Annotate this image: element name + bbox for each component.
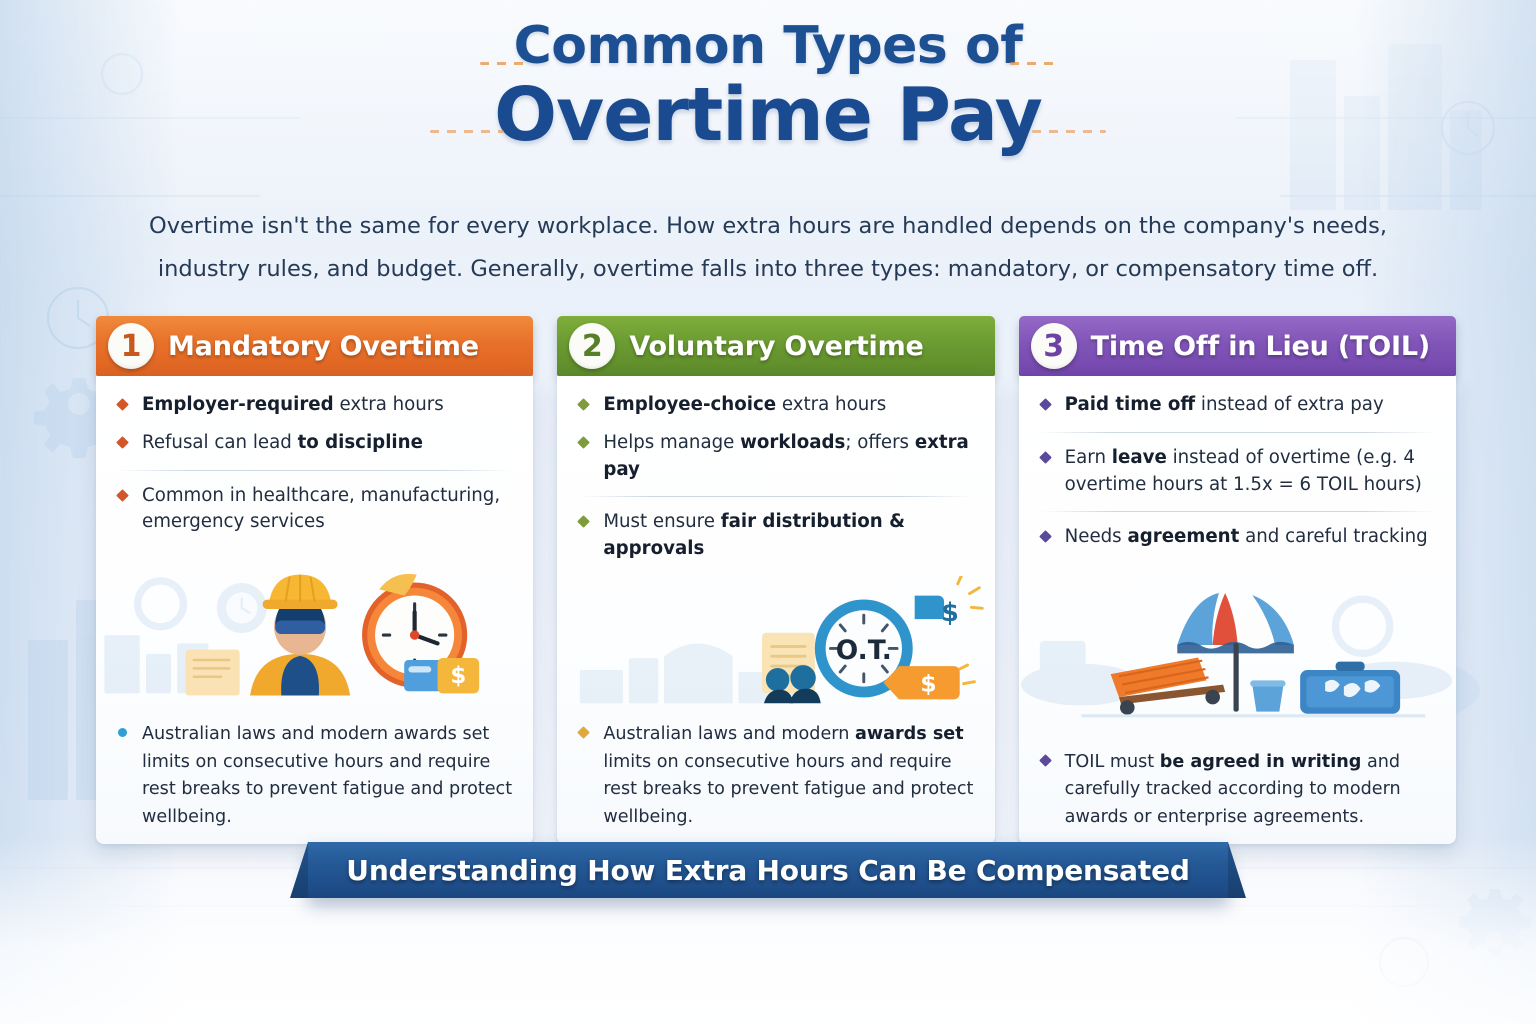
footnote-text2: limits on consecutive hours and require … bbox=[603, 752, 973, 828]
footer-banner: Understanding How Extra Hours Can Be Com… bbox=[308, 842, 1228, 898]
dash-right-icon bbox=[1010, 62, 1056, 65]
bullet-bold: to discipline bbox=[298, 432, 423, 453]
bullet-text: extra hours bbox=[334, 394, 444, 415]
card3-header: 3 Time Off in Lieu (TOIL) bbox=[1019, 316, 1456, 376]
diamond-bullet-icon bbox=[577, 398, 590, 411]
list-item: Helps manage workloads; offers extra pay bbox=[577, 430, 974, 484]
title-dash-accents bbox=[0, 62, 1536, 72]
card1-header: 1 Mandatory Overtime bbox=[96, 316, 533, 376]
bullet-bold: workloads bbox=[740, 432, 845, 453]
beach-umbrella-lounger-suitcase-icon bbox=[1019, 564, 1456, 741]
page-subtitle: Overtime isn't the same for every workpl… bbox=[140, 205, 1396, 291]
diamond-bullet-icon bbox=[116, 489, 129, 502]
bullet-bold: agreement bbox=[1127, 526, 1239, 547]
svg-text:$: $ bbox=[921, 669, 937, 697]
card3-number: 3 bbox=[1043, 329, 1064, 364]
svg-text:$: $ bbox=[941, 598, 959, 628]
construction-worker-clock-money-icon: $ bbox=[96, 549, 533, 713]
card1-title: Mandatory Overtime bbox=[168, 331, 479, 362]
bullet-bold: leave bbox=[1112, 447, 1167, 468]
card-time-off-in-lieu[interactable]: 3 Time Off in Lieu (TOIL) Paid time off … bbox=[1019, 316, 1456, 844]
card2-body: Employee-choice extra hours Helps manage… bbox=[557, 376, 994, 844]
card-mandatory-overtime[interactable]: 1 Mandatory Overtime Employer-required e… bbox=[96, 316, 533, 844]
price-tag-icon: $ bbox=[884, 666, 960, 699]
infographic-canvas: Common Types of Overtime Pay Overtime is… bbox=[0, 0, 1536, 1024]
card2-number: 2 bbox=[582, 329, 603, 364]
bullet-text: extra hours bbox=[776, 394, 886, 415]
footnote-text: TOIL must bbox=[1065, 752, 1160, 772]
page-header: Common Types of Overtime Pay bbox=[0, 20, 1536, 157]
card3-illustration bbox=[1019, 564, 1456, 741]
ot-clock-documents-money-icon: O.T. $ $ bbox=[557, 576, 994, 713]
list-item: Paid time off instead of extra pay bbox=[1039, 392, 1436, 419]
dash-left-lower-icon bbox=[430, 130, 504, 133]
list-item: Employee-choice extra hours bbox=[577, 392, 974, 419]
card2-bullet-list: Employee-choice extra hours Helps manage… bbox=[577, 392, 974, 494]
svg-text:O.T.: O.T. bbox=[836, 635, 892, 666]
card1-number: 1 bbox=[121, 329, 142, 364]
diamond-bullet-icon bbox=[1039, 754, 1052, 767]
card3-bullet-list-3: Needs agreement and careful tracking bbox=[1039, 524, 1436, 562]
footnote-bold: be agreed in writing bbox=[1160, 752, 1362, 772]
card3-footnote: TOIL must be agreed in writing and caref… bbox=[1039, 741, 1436, 834]
round-bullet-icon bbox=[118, 728, 127, 737]
card2-title: Voluntary Overtime bbox=[629, 331, 923, 362]
card1-number-badge: 1 bbox=[108, 323, 154, 369]
card1-illustration: $ bbox=[96, 549, 533, 713]
card3-bullet-list: Paid time off instead of extra pay bbox=[1039, 392, 1436, 430]
card-grid: 1 Mandatory Overtime Employer-required e… bbox=[96, 316, 1456, 844]
bullet-text: Needs bbox=[1065, 526, 1128, 547]
card1-bullet-list: Employer-required extra hours Refusal ca… bbox=[116, 392, 513, 468]
card2-bullet-list-2: Must ensure fair distribution & approval… bbox=[577, 509, 974, 574]
list-item: Needs agreement and careful tracking bbox=[1039, 524, 1436, 551]
diamond-bullet-icon bbox=[1039, 398, 1052, 411]
lounge-chair-icon bbox=[1110, 658, 1225, 715]
bullet-bold: Paid time off bbox=[1065, 394, 1195, 415]
diamond-bullet-icon bbox=[1039, 530, 1052, 543]
footnote-text: Australian laws and modern awards set li… bbox=[142, 724, 512, 827]
card3-divider-1 bbox=[1039, 432, 1436, 433]
diamond-bullet-icon bbox=[1039, 451, 1052, 464]
list-item: Employer-required extra hours bbox=[116, 392, 513, 419]
bullet-text: Refusal can lead bbox=[142, 432, 298, 453]
diamond-bullet-icon bbox=[116, 436, 129, 449]
dash-left-icon bbox=[480, 62, 526, 65]
diamond-bullet-icon bbox=[577, 436, 590, 449]
diamond-bullet-icon bbox=[116, 398, 129, 411]
bullet-text: Common in healthcare, manufacturing, eme… bbox=[142, 485, 500, 533]
diamond-bullet-icon bbox=[577, 726, 590, 739]
bullet-text: instead of extra pay bbox=[1195, 394, 1384, 415]
card1-body: Employer-required extra hours Refusal ca… bbox=[96, 376, 533, 844]
card2-illustration: O.T. $ $ bbox=[557, 576, 994, 713]
worker-figure-icon bbox=[250, 575, 350, 696]
card3-bullet-list-2: Earn leave instead of overtime (e.g. 4 o… bbox=[1039, 445, 1436, 510]
bullet-bold: Employee-choice bbox=[603, 394, 776, 415]
card2-number-badge: 2 bbox=[569, 323, 615, 369]
footer-banner-wrap: Understanding How Extra Hours Can Be Com… bbox=[0, 842, 1536, 898]
bullet-text: Must ensure bbox=[603, 511, 720, 532]
footnote-text: Australian laws and modern bbox=[603, 724, 855, 744]
bucket-icon bbox=[1250, 680, 1285, 711]
list-item: Must ensure fair distribution & approval… bbox=[577, 509, 974, 563]
footer-text: Understanding How Extra Hours Can Be Com… bbox=[346, 854, 1189, 887]
card2-footnote: Australian laws and modern awards set li… bbox=[577, 713, 974, 834]
bullet-text: Earn bbox=[1065, 447, 1112, 468]
card1-footnote: Australian laws and modern awards set li… bbox=[116, 713, 513, 834]
card1-divider bbox=[116, 470, 513, 471]
bullet-text2: ; offers bbox=[845, 432, 915, 453]
bullet-text2: and careful tracking bbox=[1239, 526, 1427, 547]
list-item: Refusal can lead to discipline bbox=[116, 430, 513, 457]
dash-right-lower-icon bbox=[1032, 130, 1106, 133]
card3-body: Paid time off instead of extra pay Earn … bbox=[1019, 376, 1456, 844]
page-title-line2: Overtime Pay bbox=[0, 74, 1536, 157]
card2-divider bbox=[577, 496, 974, 497]
card3-title: Time Off in Lieu (TOIL) bbox=[1091, 331, 1430, 362]
card3-number-badge: 3 bbox=[1031, 323, 1077, 369]
footnote-bold: awards set bbox=[855, 724, 964, 744]
list-item: Common in healthcare, manufacturing, eme… bbox=[116, 483, 513, 537]
document-icon bbox=[186, 650, 240, 696]
diamond-bullet-icon bbox=[577, 515, 590, 528]
svg-text:$: $ bbox=[450, 663, 466, 689]
card1-bullet-list-2: Common in healthcare, manufacturing, eme… bbox=[116, 483, 513, 548]
card-voluntary-overtime[interactable]: 2 Voluntary Overtime Employee-choice ext… bbox=[557, 316, 994, 844]
money-card-icon: $ bbox=[404, 658, 479, 693]
bullet-bold: Employer-required bbox=[142, 394, 334, 415]
bullet-text: Helps manage bbox=[603, 432, 740, 453]
list-item: Earn leave instead of overtime (e.g. 4 o… bbox=[1039, 445, 1436, 499]
card3-divider-2 bbox=[1039, 511, 1436, 512]
card2-header: 2 Voluntary Overtime bbox=[557, 316, 994, 376]
